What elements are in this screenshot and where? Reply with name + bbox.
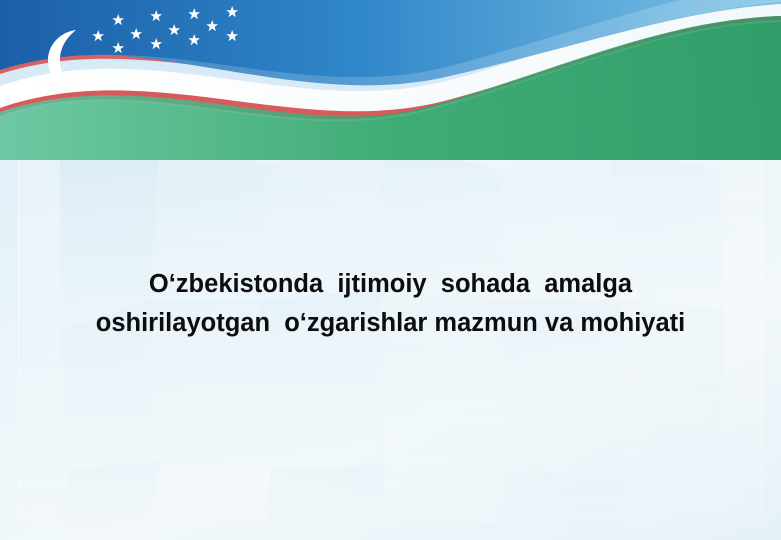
title-line-1: O‘zbekistonda ijtimoiy sohada amalga — [0, 265, 781, 304]
flag-wave-banner — [0, 0, 781, 150]
title-line-2: oshirilayotgan o‘zgarishlar mazmun va mo… — [0, 304, 781, 343]
presentation-slide: O‘zbekistonda ijtimoiy sohada amalga osh… — [0, 0, 781, 540]
slide-title: O‘zbekistonda ijtimoiy sohada amalga osh… — [0, 265, 781, 343]
